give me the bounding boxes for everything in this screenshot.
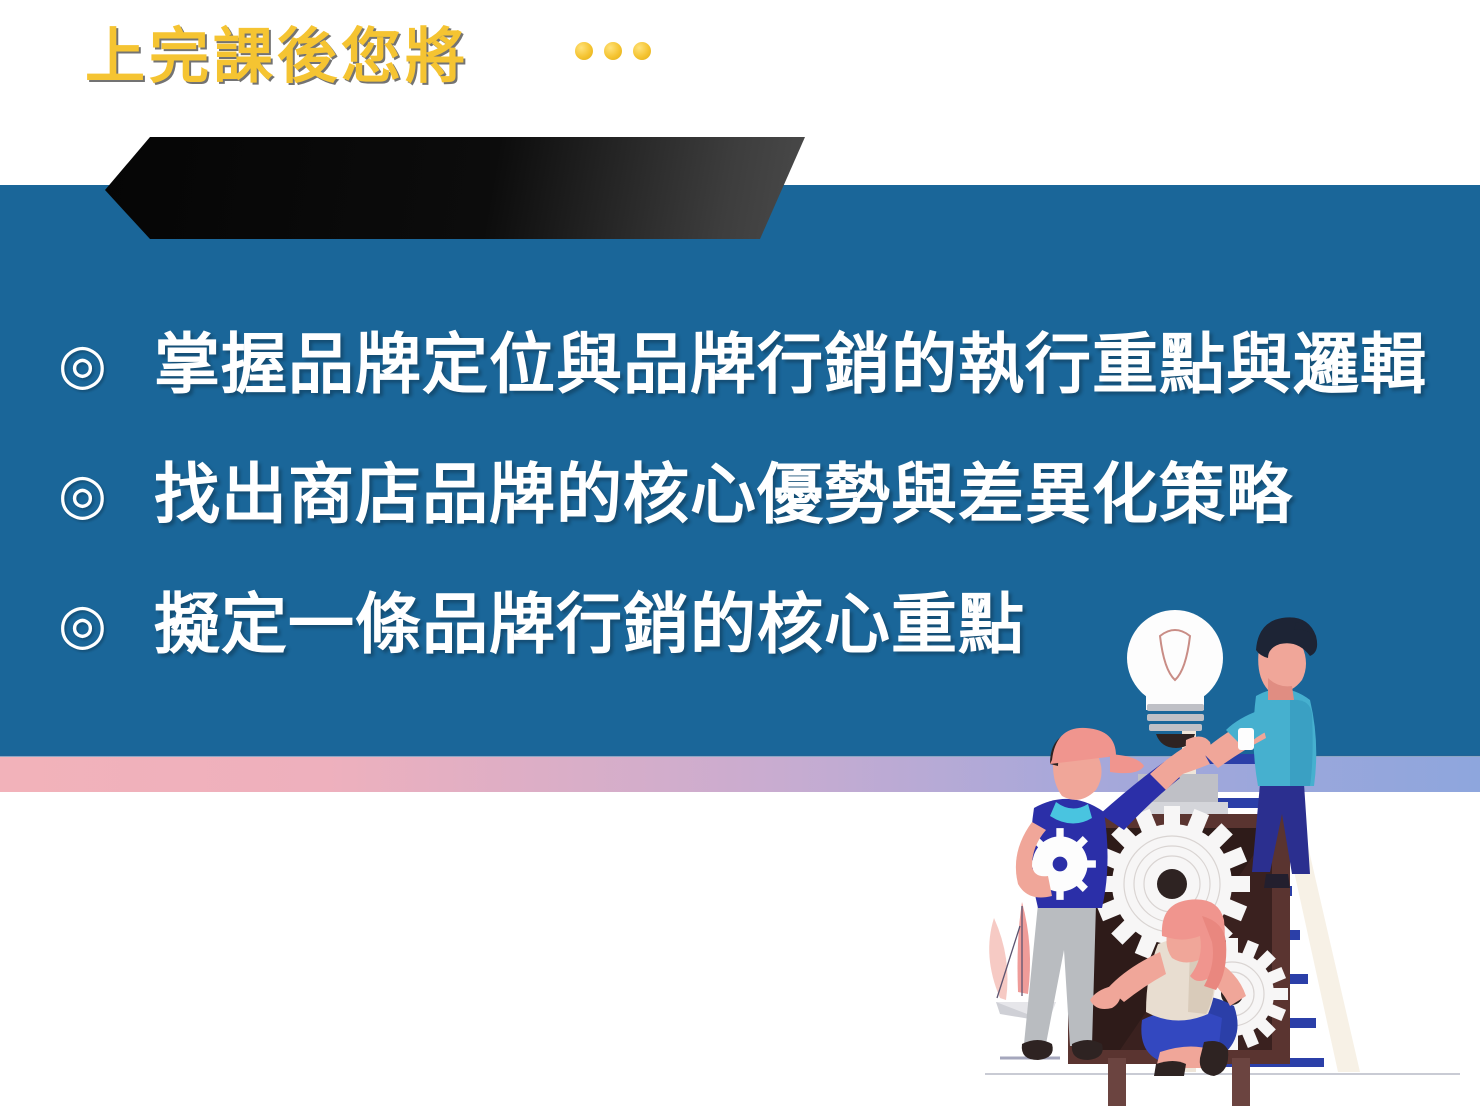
- double-circle-bullet-icon: ◎: [58, 597, 154, 653]
- list-item: ◎ 掌握品牌定位與品牌行銷的執行重點與邏輯: [58, 300, 1458, 430]
- slide-canvas: 上完課後您將 ◎ 掌握品牌定位與品牌行銷的執行重點與邏輯 ◎ 找出商店品牌的核心…: [0, 0, 1480, 1106]
- list-item-label: 擬定一條品牌行銷的核心重點: [154, 592, 1025, 658]
- banner-title: 上完課後您將: [85, 0, 469, 102]
- light-bulb-icon: [1127, 610, 1223, 748]
- list-item-label: 找出商店品牌的核心優勢與差異化策略: [154, 462, 1293, 528]
- header-banner: [105, 137, 805, 239]
- list-item: ◎ 找出商店品牌的核心優勢與差異化策略: [58, 430, 1458, 560]
- ellipsis-dots-icon: [575, 0, 651, 102]
- double-circle-bullet-icon: ◎: [58, 337, 154, 393]
- teamwork-gears-lightbulb-illustration: [960, 606, 1480, 1106]
- list-item-label: 掌握品牌定位與品牌行銷的執行重點與邏輯: [154, 332, 1427, 398]
- double-circle-bullet-icon: ◎: [58, 467, 154, 523]
